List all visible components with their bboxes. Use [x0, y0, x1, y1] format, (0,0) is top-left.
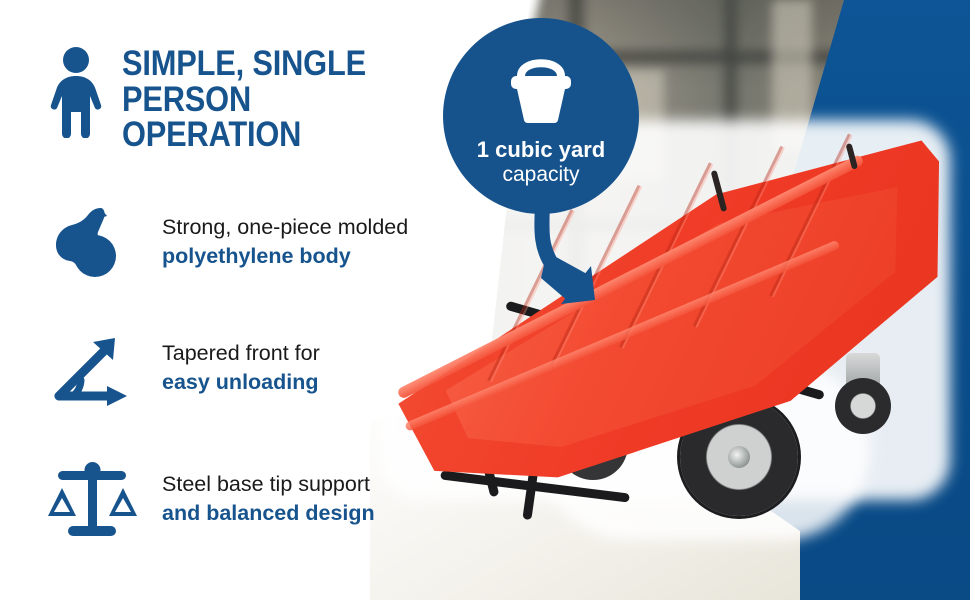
feature-text: Strong, one-piece molded polyethylene bo… — [162, 213, 408, 270]
capacity-callout-circle: 1 cubic yard capacity — [443, 18, 639, 214]
feature-emphasis: easy unloading — [162, 368, 320, 397]
flexed-bicep-icon — [44, 204, 140, 280]
feature-emphasis: polyethylene body — [162, 242, 408, 271]
feature-item-balanced-design: Steel base tip support and balanced desi… — [44, 458, 444, 540]
feature-emphasis: and balanced design — [162, 499, 375, 528]
headline-row: SIMPLE, SINGLE PERSON OPERATION — [48, 46, 430, 153]
angle-arrows-icon — [44, 330, 140, 406]
capacity-callout-text: 1 cubic yard capacity — [477, 137, 605, 187]
feature-item-polyethylene-body: Strong, one-piece molded polyethylene bo… — [44, 204, 444, 280]
page-title: SIMPLE, SINGLE PERSON OPERATION — [122, 46, 393, 153]
person-icon — [48, 46, 104, 143]
capacity-value: 1 cubic yard — [477, 137, 605, 163]
balance-scale-icon — [44, 458, 140, 540]
feature-text: Tapered front for easy unloading — [162, 339, 320, 396]
feature-lead: Tapered front for — [162, 339, 320, 368]
product-feature-infographic: SIMPLE, SINGLE PERSON OPERATION Strong, … — [0, 0, 970, 600]
feature-lead: Strong, one-piece molded — [162, 213, 408, 242]
capacity-callout: 1 cubic yard capacity — [443, 18, 639, 214]
feature-lead: Steel base tip support — [162, 470, 375, 499]
capacity-label: capacity — [477, 163, 605, 187]
feature-list-column: SIMPLE, SINGLE PERSON OPERATION Strong, … — [0, 0, 430, 600]
feature-item-easy-unloading: Tapered front for easy unloading — [44, 330, 444, 406]
bucket-icon — [505, 50, 577, 129]
feature-text: Steel base tip support and balanced desi… — [162, 470, 375, 527]
